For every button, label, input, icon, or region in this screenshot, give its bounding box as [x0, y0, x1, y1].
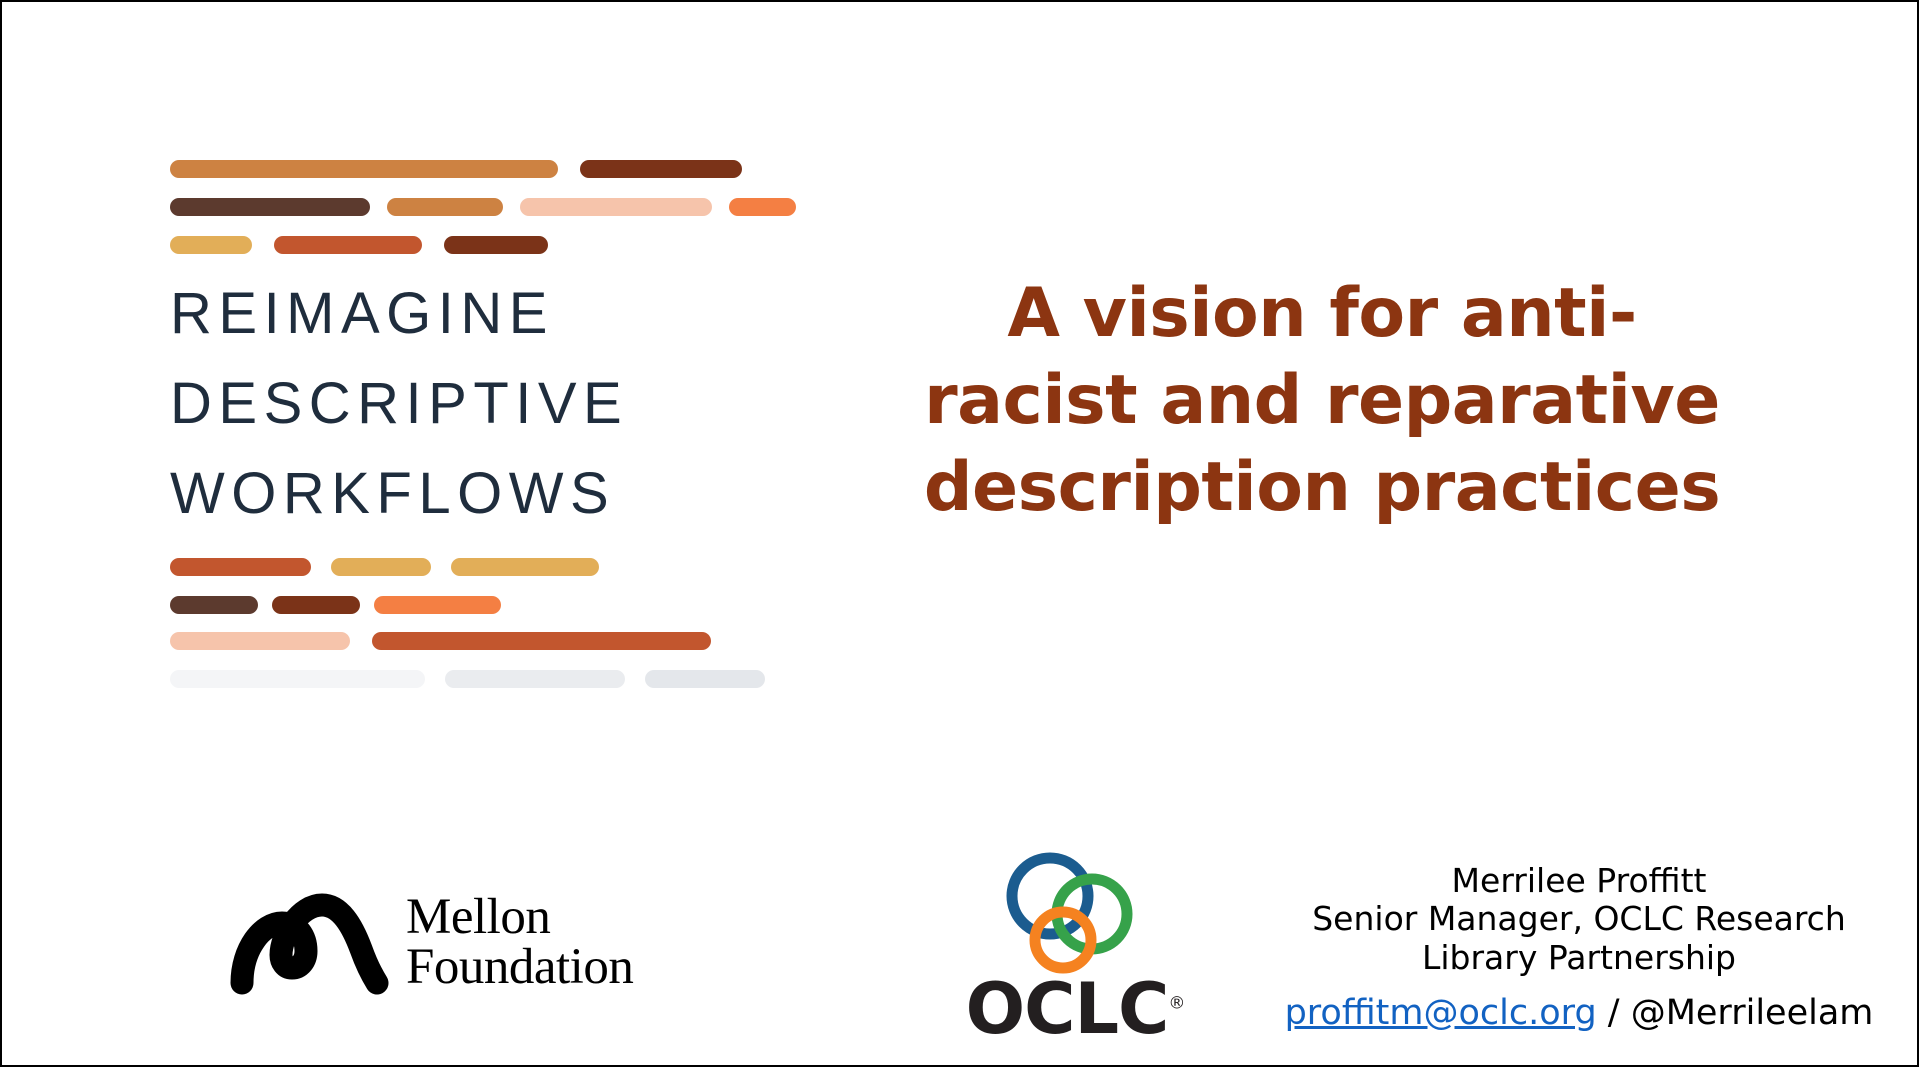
speaker-title-line-2: Library Partnership	[1269, 939, 1889, 977]
page-title: A vision for anti- racist and reparative…	[882, 270, 1762, 531]
logo-bar	[170, 632, 350, 650]
logo-bar	[387, 198, 503, 216]
oclc-rings-icon	[992, 850, 1158, 975]
logo-bar	[170, 670, 425, 688]
logo-bar	[445, 670, 625, 688]
registered-trademark-icon: ®	[1168, 994, 1184, 1014]
logo-bar	[170, 596, 258, 614]
logo-bar	[645, 670, 765, 688]
logo-bar	[170, 558, 311, 576]
logo-bar	[331, 558, 431, 576]
logo-word-reimagine: REIMAGINE	[170, 285, 790, 343]
slide-canvas: REIMAGINE DESCRIPTIVE WORKFLOWS A vision…	[0, 0, 1919, 1067]
logo-word-workflows: WORKFLOWS	[170, 465, 790, 523]
oclc-logo: OCLC®	[950, 850, 1200, 1040]
logo-bar	[444, 236, 548, 254]
logo-bar	[170, 236, 252, 254]
oclc-wordmark: OCLC®	[950, 968, 1200, 1050]
logo-bar	[274, 236, 422, 254]
email-link[interactable]: proffitm@oclc.org	[1285, 993, 1597, 1033]
logo-bar-row	[170, 596, 790, 614]
logo-bar	[374, 596, 501, 614]
mellon-wordmark: Mellon Foundation	[406, 893, 633, 993]
mellon-foundation-logo: Mellon Foundation	[230, 878, 690, 1008]
logo-bar	[580, 160, 742, 178]
speaker-info: Merrilee Proffitt Senior Manager, OCLC R…	[1269, 862, 1889, 1033]
title-line-1: A vision for anti-	[882, 270, 1762, 357]
logo-bar	[170, 160, 558, 178]
title-line-2: racist and reparative	[882, 357, 1762, 444]
logo-bar	[729, 198, 796, 216]
mellon-word-line-2: Foundation	[406, 943, 633, 993]
logo-bar-row	[170, 236, 790, 254]
reimagine-descriptive-workflows-logo: REIMAGINE DESCRIPTIVE WORKFLOWS	[170, 160, 790, 705]
logo-bar-row	[170, 198, 790, 216]
logo-word-descriptive: DESCRIPTIVE	[170, 375, 790, 433]
contact-line: proffitm@oclc.org / @Merrileelam	[1269, 993, 1889, 1033]
logo-bar	[451, 558, 599, 576]
oclc-wordmark-text: OCLC	[966, 968, 1169, 1050]
logo-bar	[520, 198, 712, 216]
speaker-name: Merrilee Proffitt	[1269, 862, 1889, 900]
logo-bar	[272, 596, 360, 614]
logo-bar-row	[170, 632, 790, 650]
speaker-title-line-1: Senior Manager, OCLC Research	[1269, 900, 1889, 938]
twitter-handle: @Merrileelam	[1631, 993, 1874, 1033]
logo-bar-row	[170, 160, 790, 178]
mellon-squiggle-icon	[230, 891, 390, 996]
title-line-3: description practices	[882, 444, 1762, 531]
logo-bar-row	[170, 558, 790, 576]
mellon-word-line-1: Mellon	[406, 893, 633, 943]
logo-bar-row	[170, 670, 790, 688]
contact-separator: /	[1597, 993, 1631, 1033]
logo-bar	[170, 198, 370, 216]
logo-bar	[372, 632, 711, 650]
